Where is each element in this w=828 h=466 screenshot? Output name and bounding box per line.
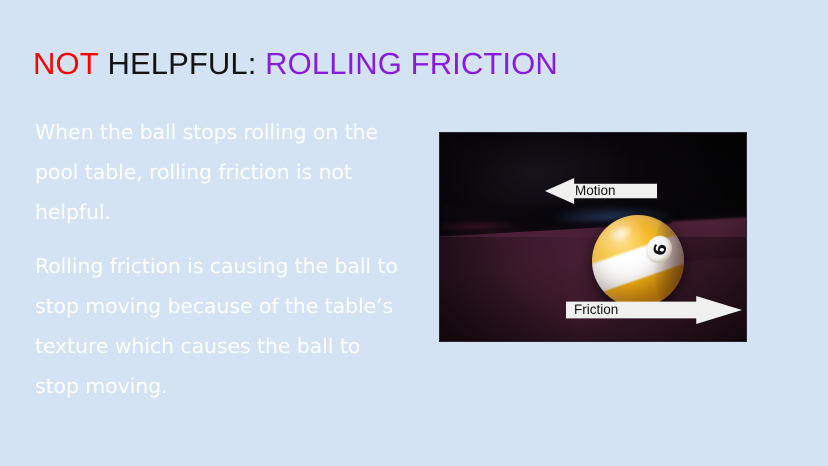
photo-ball-highlight — [606, 220, 637, 246]
photo-ball-number-badge: 9 — [646, 234, 673, 265]
slide: NOT HELPFUL: ROLLING FRICTION When the b… — [0, 0, 828, 466]
body-text: When the ball stops rolling on the pool … — [35, 112, 405, 406]
title-word-topic: ROLLING FRICTION — [265, 46, 558, 81]
title-word-helpful: HELPFUL: — [107, 46, 256, 81]
page-title: NOT HELPFUL: ROLLING FRICTION — [33, 47, 558, 81]
body-paragraph-2: Rolling friction is causing the ball to … — [35, 246, 405, 406]
friction-arrow-label: Friction — [574, 303, 618, 317]
photo-billiard-ball: 9 — [592, 215, 684, 307]
motion-arrow-label: Motion — [575, 184, 616, 198]
body-paragraph-1: When the ball stops rolling on the pool … — [35, 112, 405, 232]
pool-table-photo: 9 Motion Friction — [440, 133, 746, 341]
title-word-not: NOT — [33, 46, 99, 81]
